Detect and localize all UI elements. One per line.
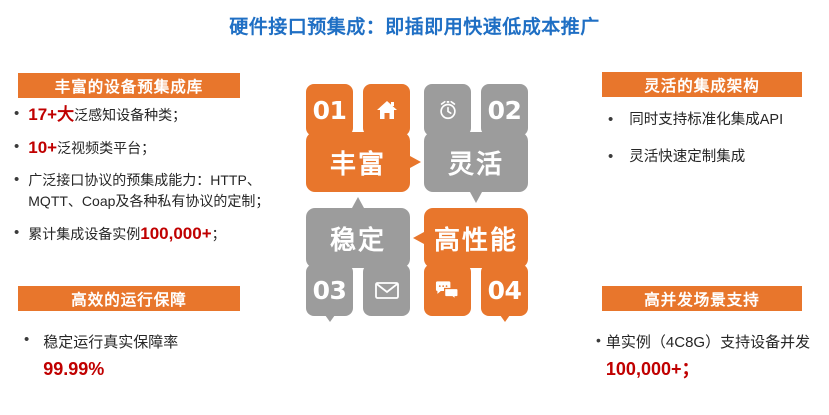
list-item-text: 17+大泛感知设备种类； bbox=[28, 104, 186, 126]
list-item-text: 稳定运行真实保障率99.99% bbox=[43, 330, 178, 384]
diagram-quadrant-02[interactable]: 02 灵活 bbox=[424, 84, 528, 192]
bullet-list-right-bottom: • 单实例（4C8G）支持设备并发100,000+； bbox=[596, 330, 826, 395]
diagram-quadrant-01[interactable]: 01 丰富 bbox=[306, 84, 410, 192]
list-item-text: 累计集成设备实例100,000+； bbox=[28, 223, 225, 245]
bullet-list-right-top: • 同时支持标准化集成API • 灵活快速定制集成 bbox=[608, 110, 820, 184]
list-item-text: 单实例（4C8G）支持设备并发100,000+； bbox=[606, 330, 826, 384]
bullet-glyph: • bbox=[608, 110, 613, 130]
quadrant-label: 丰富 bbox=[330, 144, 386, 181]
list-item: • 灵活快速定制集成 bbox=[608, 147, 820, 168]
quadrant-label-panel: 灵活 bbox=[424, 132, 528, 192]
list-item: • 稳定运行真实保障率99.99% bbox=[24, 330, 290, 384]
list-item-suffix: 泛感知设备种类； bbox=[74, 107, 186, 123]
bullet-glyph: • bbox=[14, 170, 19, 190]
section-header-right-top: 灵活的集成架构 bbox=[602, 72, 802, 97]
list-item-suffix: ； bbox=[212, 226, 226, 242]
slide-canvas: 硬件接口预集成：即插即用快速低成本推广 丰富的设备预集成库 • 17+大泛感知设… bbox=[0, 0, 829, 415]
emphasis-value: 100,000+； bbox=[606, 359, 700, 379]
list-item-text: 10+泛视频类平台； bbox=[28, 137, 155, 159]
alarm-clock-icon bbox=[424, 84, 471, 136]
list-item: • 17+大泛感知设备种类； bbox=[14, 104, 290, 126]
panel-tail bbox=[352, 197, 364, 208]
quadrant-number: 01 bbox=[313, 96, 347, 125]
quadrant-number: 03 bbox=[313, 276, 347, 305]
bullet-glyph: • bbox=[608, 147, 613, 167]
quadrant-label: 灵活 bbox=[448, 144, 504, 181]
quadrant-number: 02 bbox=[488, 96, 522, 125]
diagram-quadrant-03[interactable]: 稳定 03 bbox=[306, 208, 410, 316]
list-item: • 同时支持标准化集成API bbox=[608, 110, 820, 131]
list-item: • 累计集成设备实例100,000+； bbox=[14, 223, 290, 245]
panel-tail bbox=[470, 192, 482, 203]
list-item-suffix: 泛视频类平台； bbox=[57, 140, 155, 156]
quadrant-number: 04 bbox=[488, 276, 522, 305]
section-header-left-top: 丰富的设备预集成库 bbox=[18, 73, 240, 98]
quadrant-number-badge: 04 bbox=[481, 264, 528, 316]
list-item-prefix: 累计集成设备实例 bbox=[28, 226, 140, 242]
emphasis-value: 99.99% bbox=[43, 359, 104, 379]
bullet-list-left-top: • 17+大泛感知设备种类； • 10+泛视频类平台； • 广泛接口协议的预集成… bbox=[14, 104, 290, 256]
center-diagram: 01 丰富 bbox=[306, 84, 528, 316]
section-header-right-bottom: 高并发场景支持 bbox=[602, 286, 802, 311]
diagram-quadrant-04[interactable]: 高性能 04 bbox=[424, 208, 528, 316]
bullet-glyph: • bbox=[14, 223, 19, 243]
page-title: 硬件接口预集成：即插即用快速低成本推广 bbox=[0, 12, 829, 39]
list-item-text: 广泛接口协议的预集成能力：HTTP、MQTT、Coap及各种私有协议的定制； bbox=[28, 170, 290, 212]
emphasis-value: 10+ bbox=[28, 138, 57, 157]
quadrant-number-badge: 02 bbox=[481, 84, 528, 136]
list-item: • 广泛接口协议的预集成能力：HTTP、MQTT、Coap及各种私有协议的定制； bbox=[14, 170, 290, 212]
quadrant-label-panel: 丰富 bbox=[306, 132, 410, 192]
quadrant-number-badge: 01 bbox=[306, 84, 353, 136]
emphasis-value: 100,000+ bbox=[140, 224, 211, 243]
bullet-glyph: • bbox=[24, 330, 29, 350]
quadrant-number-badge: 03 bbox=[306, 264, 353, 316]
section-header-left-bottom: 高效的运行保障 bbox=[18, 286, 240, 311]
quadrant-label-panel: 高性能 bbox=[424, 208, 528, 268]
bullet-glyph: • bbox=[14, 104, 19, 124]
list-item-text: 灵活快速定制集成 bbox=[629, 147, 745, 168]
panel-tail bbox=[410, 156, 421, 168]
list-item: • 单实例（4C8G）支持设备并发100,000+； bbox=[596, 330, 826, 384]
list-item-prefix: 稳定运行真实保障率 bbox=[43, 334, 178, 351]
list-item-prefix: 单实例（4C8G）支持设备并发 bbox=[606, 334, 810, 351]
emphasis-value: 17+大 bbox=[28, 105, 74, 124]
chat-bubble-icon bbox=[424, 264, 471, 316]
list-item: • 10+泛视频类平台； bbox=[14, 137, 290, 159]
list-item-text: 同时支持标准化集成API bbox=[629, 110, 783, 131]
panel-tail bbox=[413, 232, 424, 244]
home-icon bbox=[363, 84, 410, 136]
bullet-glyph: • bbox=[596, 330, 601, 350]
envelope-icon bbox=[363, 264, 410, 316]
badge-tail bbox=[325, 315, 335, 322]
badge-tail bbox=[500, 315, 510, 322]
bullet-list-left-bottom: • 稳定运行真实保障率99.99% bbox=[24, 330, 290, 395]
bullet-glyph: • bbox=[14, 137, 19, 157]
quadrant-label-panel: 稳定 bbox=[306, 208, 410, 268]
quadrant-label: 稳定 bbox=[330, 220, 386, 257]
quadrant-label: 高性能 bbox=[434, 220, 518, 257]
